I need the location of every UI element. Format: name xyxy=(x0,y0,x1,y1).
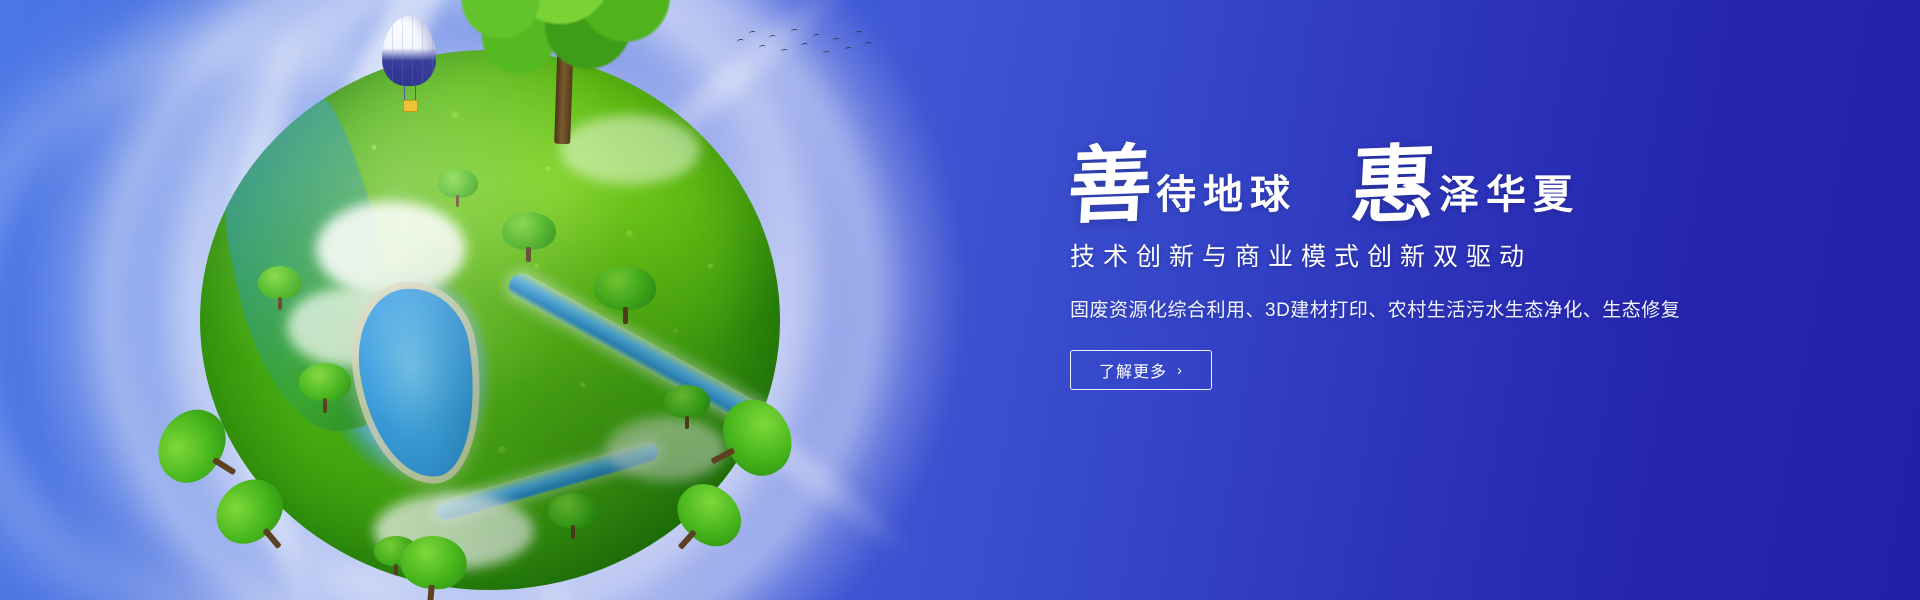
balloon-envelope xyxy=(382,16,436,86)
hero-banner: 善 待地球 惠 泽华夏 技术创新与商业模式创新双驱动 固废资源化综合利用、3D建… xyxy=(0,0,1920,600)
mountain-ridge xyxy=(202,92,417,446)
lake xyxy=(350,281,487,485)
cloud-puff xyxy=(287,288,407,366)
chevron-right-icon: › xyxy=(1177,363,1183,378)
planet-tree xyxy=(502,212,556,262)
balloon-basket xyxy=(403,100,418,112)
tree-canopy xyxy=(450,0,680,76)
headline-glyph-hui: 惠 xyxy=(1349,147,1437,227)
headline: 善 待地球 惠 泽华夏 xyxy=(1068,148,1768,225)
hot-air-balloon xyxy=(382,16,442,124)
rim-tree xyxy=(397,533,469,600)
headline-text-daidiqiu: 待地球 xyxy=(1156,175,1297,225)
headline-text-zehuaxia: 泽华夏 xyxy=(1439,175,1580,225)
planet-tree xyxy=(548,493,598,539)
tiny-planet-earth-image xyxy=(150,0,840,600)
planet-tree xyxy=(299,363,351,413)
large-tree xyxy=(450,0,680,144)
balloon-ropes xyxy=(404,84,416,100)
subtitle: 技术创新与商业模式创新双驱动 xyxy=(1070,237,1768,273)
hero-copy: 善 待地球 惠 泽华夏 技术创新与商业模式创新双驱动 固废资源化综合利用、3D建… xyxy=(1068,148,1768,390)
cloud-puff xyxy=(316,201,466,297)
headline-glyph-shan: 善 xyxy=(1066,147,1154,227)
river xyxy=(434,440,661,523)
flying-birds xyxy=(735,25,875,69)
planet-tree xyxy=(258,266,302,310)
planet-tree xyxy=(594,266,656,324)
learn-more-button[interactable]: 了解更多 › xyxy=(1070,350,1212,390)
description: 固废资源化综合利用、3D建材打印、农村生活污水生态净化、生态修复 xyxy=(1070,295,1768,322)
planet-tree xyxy=(438,169,478,207)
learn-more-label: 了解更多 xyxy=(1099,358,1167,382)
